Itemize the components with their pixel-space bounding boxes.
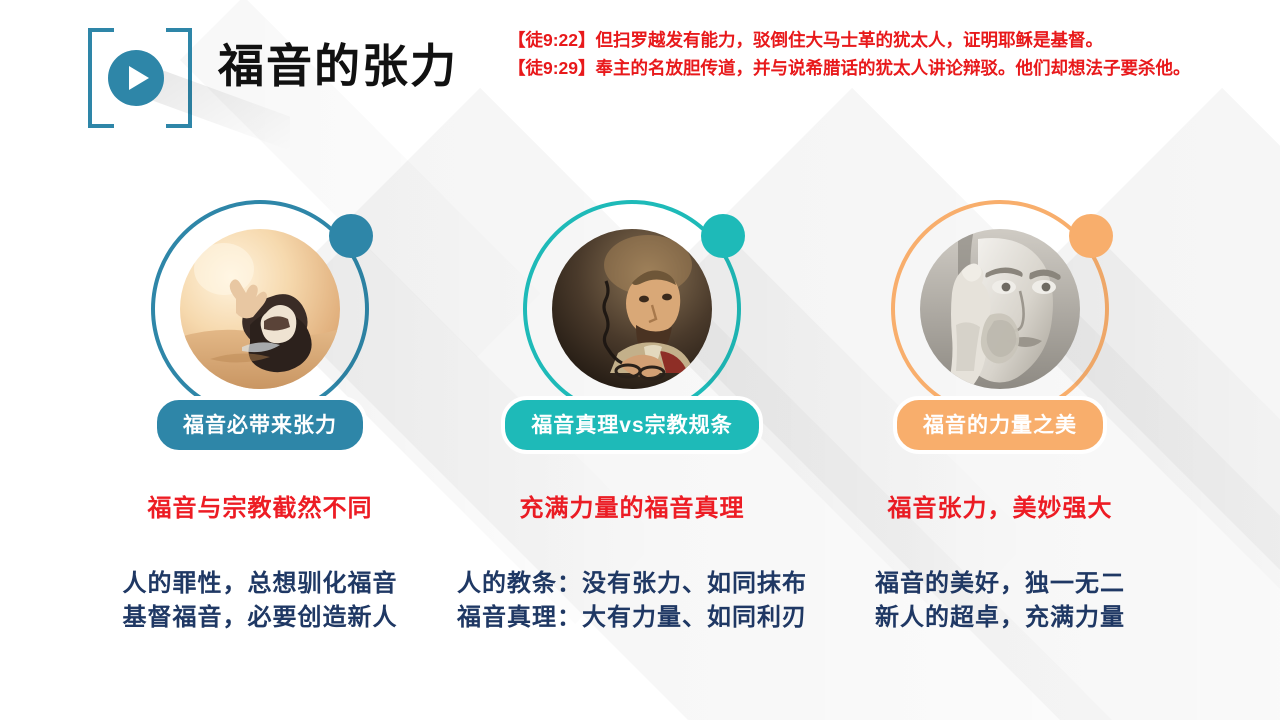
column-3-ring-group: [891, 200, 1109, 418]
michelangelo-david-statue-photo: [920, 229, 1080, 389]
column-2-body-text: 人的教条：没有张力、如同抹布 福音真理：大有力量、如同利刃: [432, 567, 832, 635]
play-button-logo: [88, 28, 192, 128]
chained-prisoner-paul-photo: [552, 229, 712, 389]
column-1-body-text: 人的罪性，总想驯化福音 基督福音，必要创造新人: [60, 567, 460, 635]
column-3-pill-label[interactable]: 福音的力量之美: [893, 396, 1107, 454]
scripture-verse-2: 【徒9:29】奉主的名放胆传道，并与说希腊话的犹太人讲论辩驳。他们却想法子要杀他…: [508, 54, 1238, 82]
column-3-accent-dot: [1069, 214, 1113, 258]
column-1-headline: 福音与宗教截然不同: [60, 488, 460, 523]
damascus-road-conversion-photo: [180, 229, 340, 389]
slide-canvas: 福音的张力 【徒9:22】但扫罗越发有能力，驳倒住大马士革的犹太人，证明耶稣是基…: [0, 0, 1280, 720]
column-2-pill-label[interactable]: 福音真理vs宗教规条: [501, 396, 762, 454]
slide-header: 福音的张力 【徒9:22】但扫罗越发有能力，驳倒住大马士革的犹太人，证明耶稣是基…: [0, 0, 1280, 140]
three-column-content: 福音必带来张力 福音与宗教截然不同 人的罪性，总想驯化福音 基督福音，必要创造新…: [0, 200, 1280, 720]
column-2-line-1: 人的教条：没有张力、如同抹布: [432, 567, 832, 601]
scripture-verse-1: 【徒9:22】但扫罗越发有能力，驳倒住大马士革的犹太人，证明耶稣是基督。: [508, 26, 1238, 54]
play-icon: [108, 50, 164, 106]
column-1-line-2: 基督福音，必要创造新人: [60, 601, 460, 635]
column-3-line-2: 新人的超卓，充满力量: [800, 601, 1200, 635]
scripture-block: 【徒9:22】但扫罗越发有能力，驳倒住大马士革的犹太人，证明耶稣是基督。 【徒9…: [508, 26, 1238, 83]
column-1-line-1: 人的罪性，总想驯化福音: [60, 567, 460, 601]
column-2-line-2: 福音真理：大有力量、如同利刃: [432, 601, 832, 635]
page-title: 福音的张力: [218, 43, 458, 89]
column-3-body-text: 福音的美好，独一无二 新人的超卓，充满力量: [800, 567, 1200, 635]
column-2-accent-dot: [701, 214, 745, 258]
column-1: 福音必带来张力 福音与宗教截然不同 人的罪性，总想驯化福音 基督福音，必要创造新…: [60, 200, 460, 635]
column-1-pill-label[interactable]: 福音必带来张力: [153, 396, 367, 454]
column-1-accent-dot: [329, 214, 373, 258]
column-3-line-1: 福音的美好，独一无二: [800, 567, 1200, 601]
column-1-ring-group: [151, 200, 369, 418]
column-2-ring-group: [523, 200, 741, 418]
